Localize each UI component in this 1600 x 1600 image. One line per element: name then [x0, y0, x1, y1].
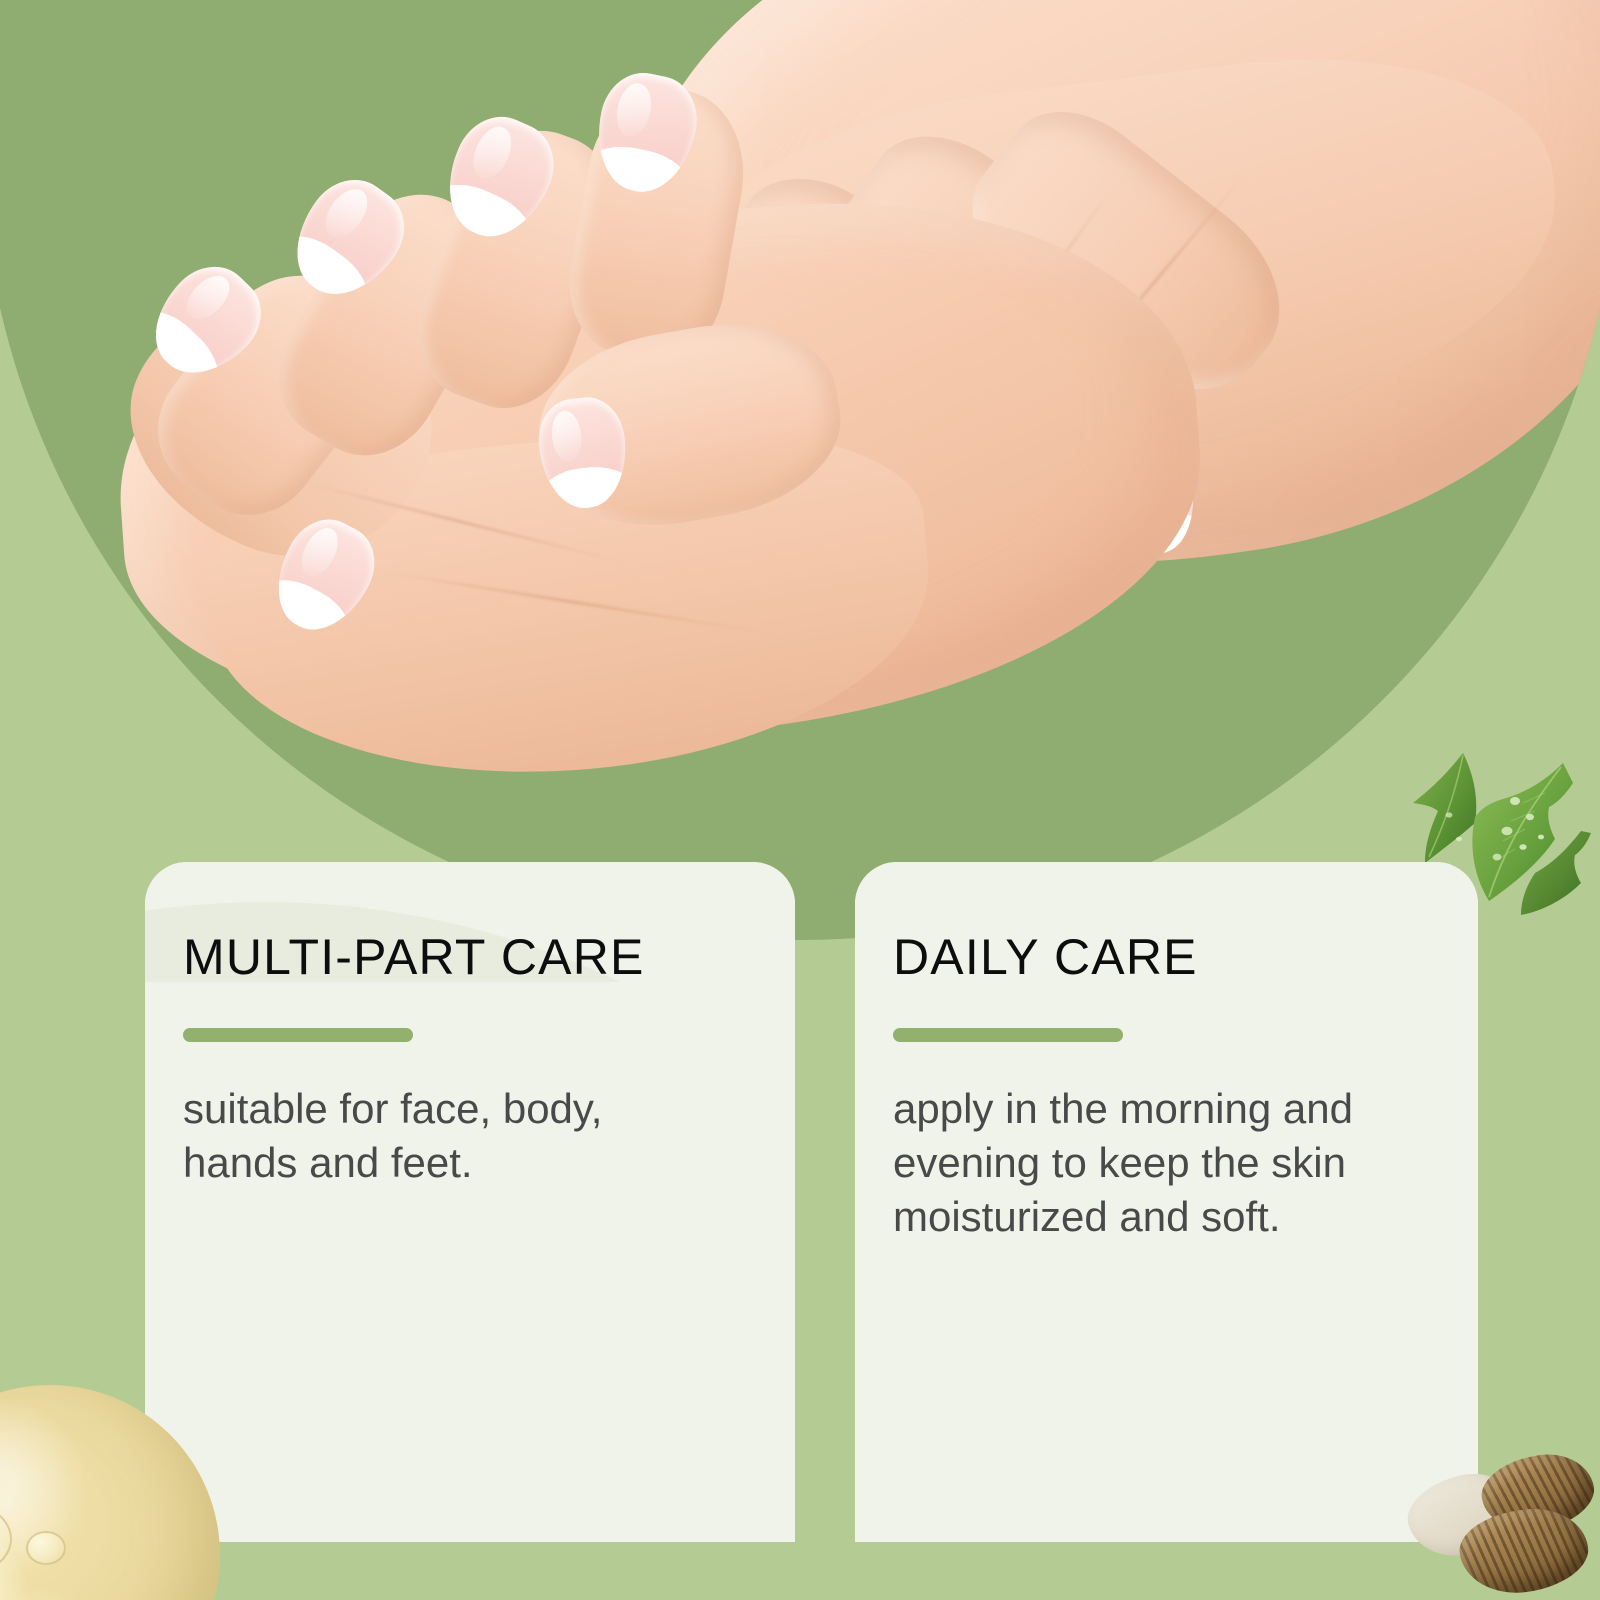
shea-nuts-decoration — [1408, 1448, 1600, 1600]
accent-bar — [183, 1028, 413, 1042]
oil-bubble — [0, 1503, 12, 1575]
card-body-text: suitable for face, body, hands and feet. — [183, 1082, 703, 1190]
accent-bar — [893, 1028, 1123, 1042]
card-title: MULTI-PART CARE — [183, 932, 795, 982]
card-multi-part-care: MULTI-PART CARE suitable for face, body,… — [145, 862, 795, 1542]
card-daily-care: DAILY CARE apply in the morning and even… — [855, 862, 1478, 1542]
oil-bubble — [26, 1531, 66, 1565]
card-body-text: apply in the morning and evening to keep… — [893, 1082, 1453, 1243]
poster-canvas: MULTI-PART CARE suitable for face, body,… — [0, 0, 1600, 1600]
card-title: DAILY CARE — [893, 932, 1478, 982]
